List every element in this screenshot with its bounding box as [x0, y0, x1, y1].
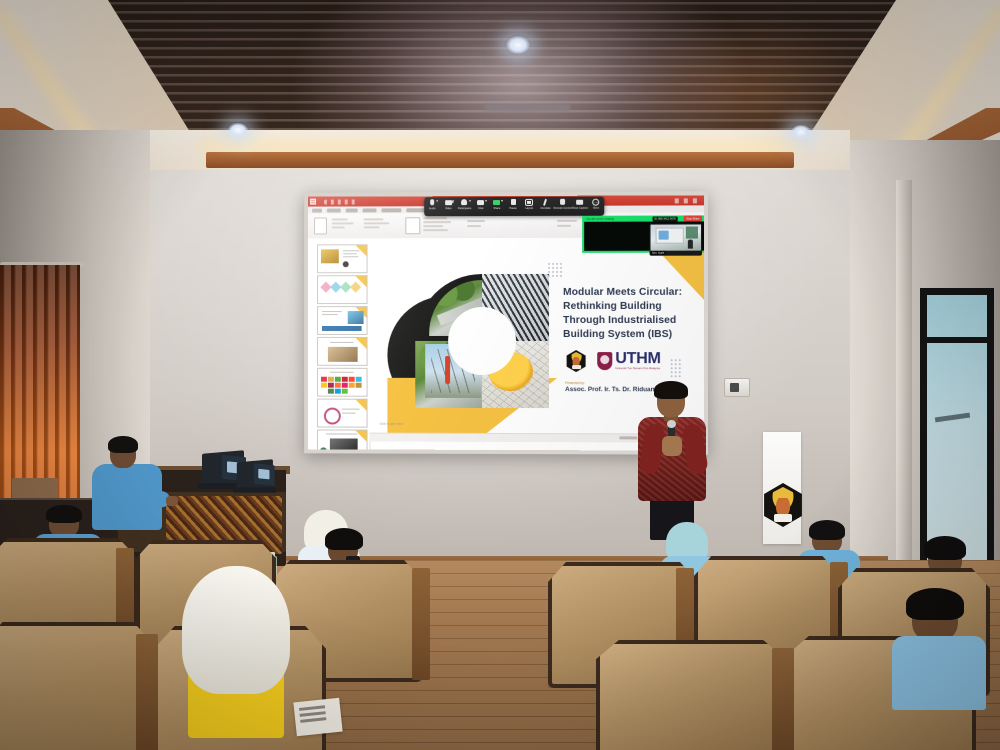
zoom-annotate-button[interactable]: Annotate [537, 197, 553, 218]
pause-icon [511, 199, 516, 205]
closed-caption-icon [576, 200, 583, 205]
zoom-video-button[interactable]: Video [440, 197, 456, 218]
universitas-jember-logo-icon [565, 350, 587, 372]
camera-icon [445, 200, 452, 205]
slide-logo-row: UTHM Universiti Tun Hussein Onn Malaysia [565, 350, 661, 372]
slide-thumbnail[interactable]: 7 [317, 429, 368, 450]
zoom-pause-button[interactable]: Pause [505, 197, 521, 218]
chevron-up-icon[interactable] [469, 200, 471, 202]
slide-thumbnail[interactable]: 1 [317, 244, 368, 273]
seat-divider [412, 568, 430, 680]
audience-person-front [176, 566, 288, 736]
slide-dot-pattern-1 [547, 262, 563, 278]
remote-room-screen [656, 228, 684, 244]
uthm-logo-icon: UTHM Universiti Tun Hussein Onn Malaysia [597, 352, 660, 370]
participant-video-thumbnail[interactable]: Sdri. Syafri [650, 223, 702, 255]
chat-icon [477, 200, 484, 205]
participants-icon [462, 199, 468, 205]
slide-notes-placeholder[interactable]: Click to add notes [379, 422, 403, 426]
conference-room-photo: Modular Meets Circular - Saved to this P… [0, 0, 1000, 750]
slide-photo-ring [415, 274, 549, 408]
chevron-up-icon[interactable] [436, 200, 438, 202]
zoom-layout-button[interactable]: Layout [521, 197, 537, 218]
seat-divider [772, 648, 794, 750]
auditorium-seat [596, 640, 786, 750]
layout-icon [526, 200, 532, 205]
uthm-shield-icon [597, 352, 612, 370]
slide-thumbnail[interactable]: 5 [317, 368, 368, 397]
operator-laptop-2[interactable] [232, 461, 277, 495]
right-wall-pillar [896, 180, 912, 590]
ceiling-downlight-3 [790, 124, 812, 140]
slide-thumbnail[interactable]: 2 [317, 275, 368, 304]
wall-light-switch[interactable] [724, 378, 750, 397]
remote-room-board [686, 226, 698, 238]
slide-thumbnail[interactable]: 6 [317, 399, 368, 428]
slide-title-line: Through Industrialised [563, 314, 699, 328]
ceiling-downlight-1 [505, 35, 531, 55]
zoom-caption-button[interactable]: Show Caption [572, 197, 588, 218]
storage-box [12, 478, 58, 500]
stop-share-button[interactable]: Stop Share [684, 216, 702, 221]
slide-thumbnail[interactable]: 3 [317, 306, 368, 335]
zoom-participants-button[interactable]: Participants [456, 197, 472, 218]
share-status-text: You are screen sharing [586, 217, 614, 220]
handout-paper [293, 698, 342, 737]
zoom-meeting-toolbar[interactable]: Audio Video Participants Chat Share [424, 197, 604, 217]
office-waffle-icon[interactable] [310, 199, 316, 205]
uthm-subtitle: Universiti Tun Hussein Onn Malaysia [615, 367, 660, 370]
slide-title-line: Modular Meets Circular: [563, 286, 699, 300]
ribbon-paste-button[interactable] [314, 218, 327, 235]
microphone-icon [431, 199, 434, 205]
zoom-remote-control-button[interactable]: Remote Control [554, 197, 572, 218]
slide-title-line: Rethinking Building [563, 300, 699, 314]
zoom-chat-button[interactable]: Chat [473, 197, 489, 218]
window-controls[interactable] [675, 198, 701, 203]
share-screen-icon [493, 200, 500, 206]
participant-name-label: Sdri. Syafri [651, 251, 666, 255]
ring-center [448, 307, 516, 375]
chevron-up-icon[interactable] [485, 200, 487, 202]
seat-divider [136, 634, 158, 750]
slide-thumbnail-panel[interactable]: 1 2 3 [308, 238, 370, 449]
uthm-wordmark: UTHM [615, 352, 660, 366]
audience-person-front [892, 588, 988, 708]
chevron-up-icon[interactable] [501, 200, 503, 202]
zoom-audio-button[interactable]: Audio [424, 197, 440, 218]
presented-by-label: Presented by: [565, 381, 585, 385]
zoom-more-button[interactable]: More [588, 197, 604, 218]
remote-control-icon [560, 199, 564, 205]
remote-participant-figure [688, 240, 693, 249]
zoom-share-button[interactable]: Share [489, 197, 505, 218]
ribbon-layout-button[interactable] [405, 217, 420, 234]
pen-icon [543, 199, 547, 206]
wood-trim-back [206, 152, 794, 168]
presenter-person [636, 384, 710, 536]
ceiling-downlight-2 [227, 122, 249, 138]
more-icon [593, 199, 600, 206]
chevron-up-icon[interactable] [452, 200, 454, 202]
quick-access-toolbar[interactable] [324, 199, 358, 204]
meeting-id-chip: ID: 889 3412 0076 [652, 216, 678, 221]
slide-title-line: Building System (IBS) [563, 328, 699, 342]
slide-thumbnail[interactable]: 4 [317, 337, 368, 366]
slide-title: Modular Meets Circular: Rethinking Build… [563, 286, 699, 342]
slide-dot-pattern-2 [670, 358, 682, 378]
auditorium-seat [0, 622, 154, 750]
